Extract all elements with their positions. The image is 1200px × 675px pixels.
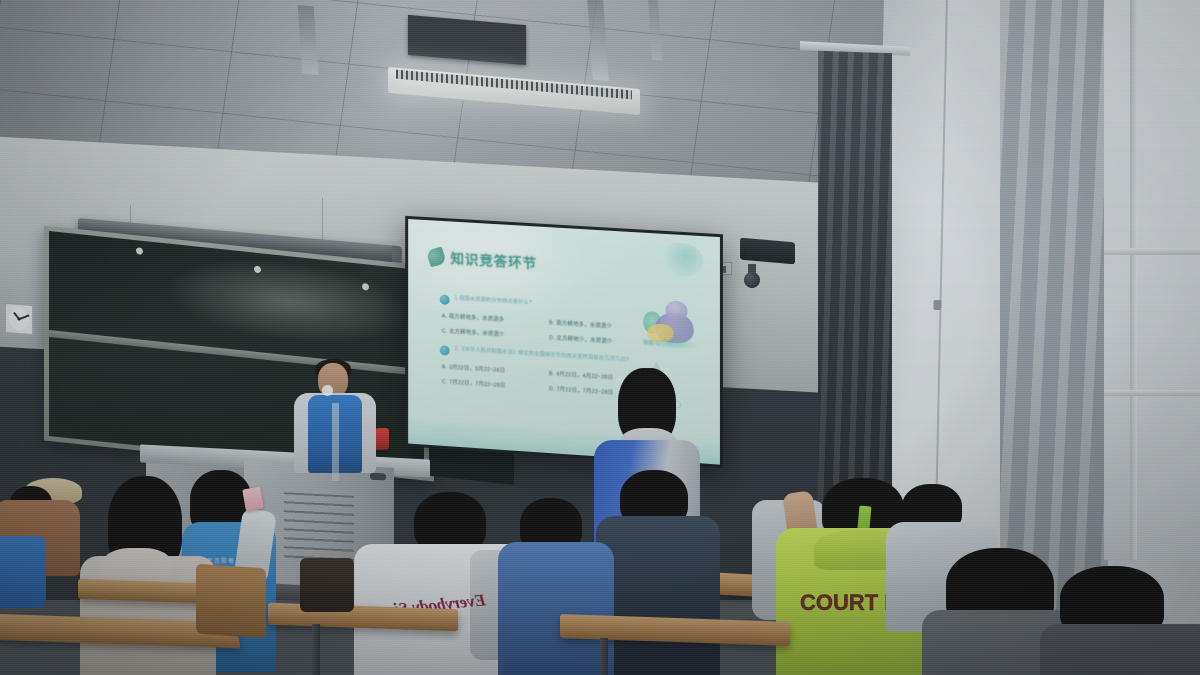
wall-knob bbox=[933, 300, 941, 310]
pendant-wire-right bbox=[322, 198, 323, 242]
mascot-water-pool bbox=[645, 337, 699, 350]
option-1d: D. 北方耕地少，水资源少 bbox=[549, 333, 657, 348]
board-clip-icon-3 bbox=[362, 283, 369, 291]
wall-clock bbox=[4, 302, 34, 336]
chair-back-dark bbox=[300, 558, 354, 612]
dome-security-camera-icon bbox=[744, 272, 760, 288]
student-dark-navy-jacket bbox=[598, 470, 718, 675]
window-mullion-horizontal bbox=[1104, 248, 1200, 255]
water-mascot-illustration bbox=[643, 293, 706, 353]
presenter-at-podium bbox=[288, 363, 384, 473]
question-badge-icon bbox=[440, 294, 450, 305]
clock-center-pin bbox=[18, 317, 21, 320]
pink-answer-card[interactable] bbox=[242, 487, 264, 512]
option-2c: C. 7月22日，7月22~28日 bbox=[442, 377, 549, 392]
presenter-vest-logo-icon bbox=[322, 385, 333, 396]
mascot-head bbox=[665, 300, 687, 321]
wall-seam bbox=[934, 0, 948, 560]
podium-vent-slots bbox=[284, 492, 354, 566]
student-shoulders bbox=[1040, 624, 1200, 675]
wall-speaker bbox=[740, 238, 795, 265]
desk-leg-right bbox=[600, 638, 608, 675]
option-1a: A. 南方耕地多，水资源多 bbox=[442, 311, 549, 326]
dark-blackout-curtain[interactable] bbox=[818, 51, 892, 524]
leaf-icon bbox=[426, 246, 447, 267]
classroom-photo-scene: 知识竞答环节 1.我国水资源的分布特点是什么? A. 南方耕地多，水资源多 B.… bbox=[0, 0, 1200, 675]
question-block-1: 1.我国水资源的分布特点是什么? A. 南方耕地多，水资源多 B. 南方耕地多，… bbox=[440, 293, 658, 347]
presenter-blue-vest bbox=[308, 395, 362, 473]
student-blue-vest bbox=[0, 536, 46, 608]
option-1b: B. 南方耕地多，水资源少 bbox=[549, 318, 657, 333]
option-1c: C. 北方耕地多，水资源少 bbox=[442, 326, 549, 341]
chair-back-left bbox=[196, 564, 266, 639]
question-badge-icon-2 bbox=[440, 345, 450, 356]
question-2-prompt: 2.《中华人民共和国水法》规定的全国城市节约用水宣传周是在几月几日? bbox=[455, 345, 629, 363]
switch-toggle-icon bbox=[723, 266, 726, 273]
desk-leg-front bbox=[312, 624, 320, 675]
board-clip-icon bbox=[136, 247, 143, 255]
option-2a: A. 3月22日，3月22~28日 bbox=[442, 362, 549, 377]
student-blue-puffer-body bbox=[498, 542, 614, 675]
podium-handle[interactable] bbox=[370, 473, 386, 481]
student-blue-puffer bbox=[498, 498, 616, 675]
slide-corner-decoration bbox=[659, 242, 703, 279]
question-1-options: A. 南方耕地多，水资源多 B. 南方耕地多，水资源少 C. 北方耕地多，水资源… bbox=[442, 311, 658, 347]
window-mullion-horizontal-2 bbox=[1104, 390, 1200, 396]
window bbox=[1104, 0, 1200, 560]
student-foreground-far-right bbox=[1050, 566, 1200, 675]
board-clip-icon-2 bbox=[254, 266, 261, 274]
window-mullion-vertical bbox=[1130, 0, 1137, 560]
